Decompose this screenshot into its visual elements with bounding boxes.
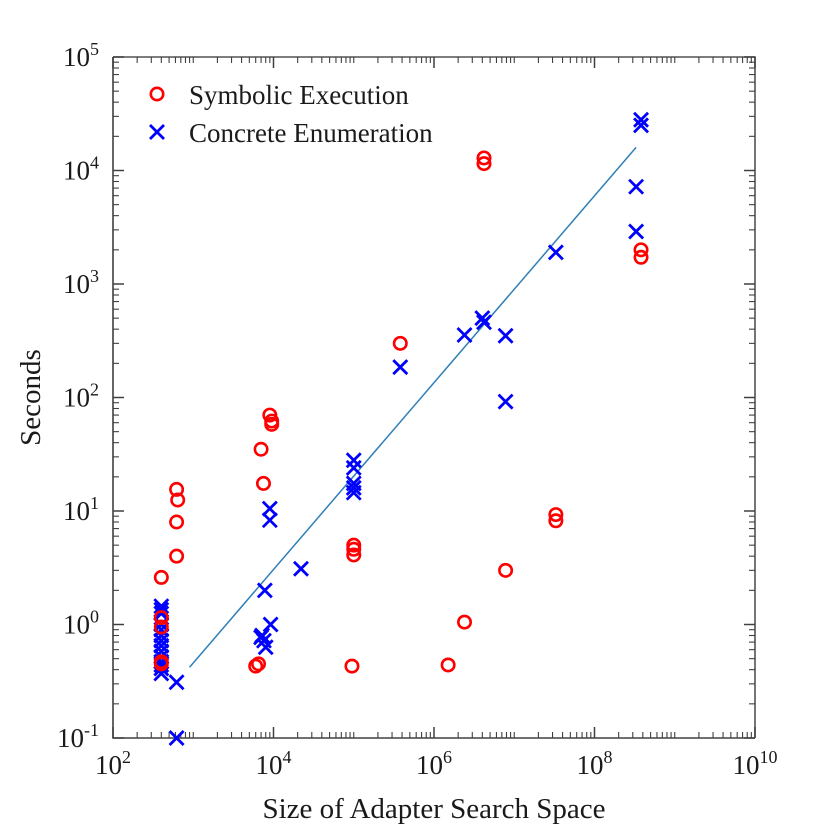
series-concrete-enumeration	[154, 113, 648, 745]
data-point-circle	[346, 660, 358, 672]
x-tick-label: 108	[577, 747, 613, 780]
data-point-x	[629, 180, 643, 194]
data-point-circle	[394, 337, 406, 349]
data-point-circle	[442, 659, 454, 671]
data-point-circle	[499, 564, 511, 576]
data-point-circle	[151, 88, 163, 100]
x-tick-label: 104	[256, 747, 292, 780]
trend-line-segment	[190, 147, 637, 667]
data-point-x	[458, 328, 472, 342]
data-point-x	[499, 329, 513, 343]
data-point-x	[294, 562, 308, 576]
axis-frame	[113, 57, 755, 738]
data-point-x	[258, 583, 272, 597]
data-point-x	[150, 125, 164, 139]
y-axis-title: Seconds	[15, 349, 47, 446]
x-tick-label: 106	[416, 747, 452, 780]
y-tick-label: 102	[63, 380, 99, 413]
x-tick-label: 102	[95, 747, 131, 780]
series-symbolic-execution	[155, 152, 647, 673]
y-tick-label: 10-1	[57, 720, 99, 753]
trend-line	[190, 147, 637, 667]
chart-figure: 102104106108101010-1100101102103104105 S…	[0, 0, 830, 830]
legend-label: Symbolic Execution	[189, 80, 409, 110]
data-point-circle	[255, 443, 267, 455]
data-point-circle	[458, 616, 470, 628]
tick-marks	[113, 57, 755, 738]
y-tick-label: 105	[63, 39, 99, 72]
data-point-x	[263, 513, 277, 527]
data-point-x	[549, 245, 563, 259]
data-point-x	[499, 395, 513, 409]
data-point-circle	[257, 477, 269, 489]
data-point-x	[629, 225, 643, 239]
data-point-x	[347, 461, 361, 475]
data-point-x	[264, 618, 278, 632]
x-axis-title: Size of Adapter Search Space	[262, 793, 605, 825]
y-tick-label: 100	[63, 607, 99, 640]
data-point-circle	[155, 571, 167, 583]
x-tick-label: 1010	[733, 747, 778, 780]
data-point-x	[393, 360, 407, 374]
y-tick-label: 104	[63, 153, 99, 186]
legend-label: Concrete Enumeration	[189, 118, 433, 148]
chart-legend: Symbolic ExecutionConcrete Enumeration	[150, 80, 433, 148]
y-tick-label: 101	[63, 493, 99, 526]
y-tick-label: 103	[63, 266, 99, 299]
data-point-circle	[170, 516, 182, 528]
data-point-x	[347, 453, 361, 467]
data-point-circle	[170, 550, 182, 562]
scatter-plot: 102104106108101010-1100101102103104105 S…	[0, 0, 830, 830]
data-point-x	[170, 675, 184, 689]
